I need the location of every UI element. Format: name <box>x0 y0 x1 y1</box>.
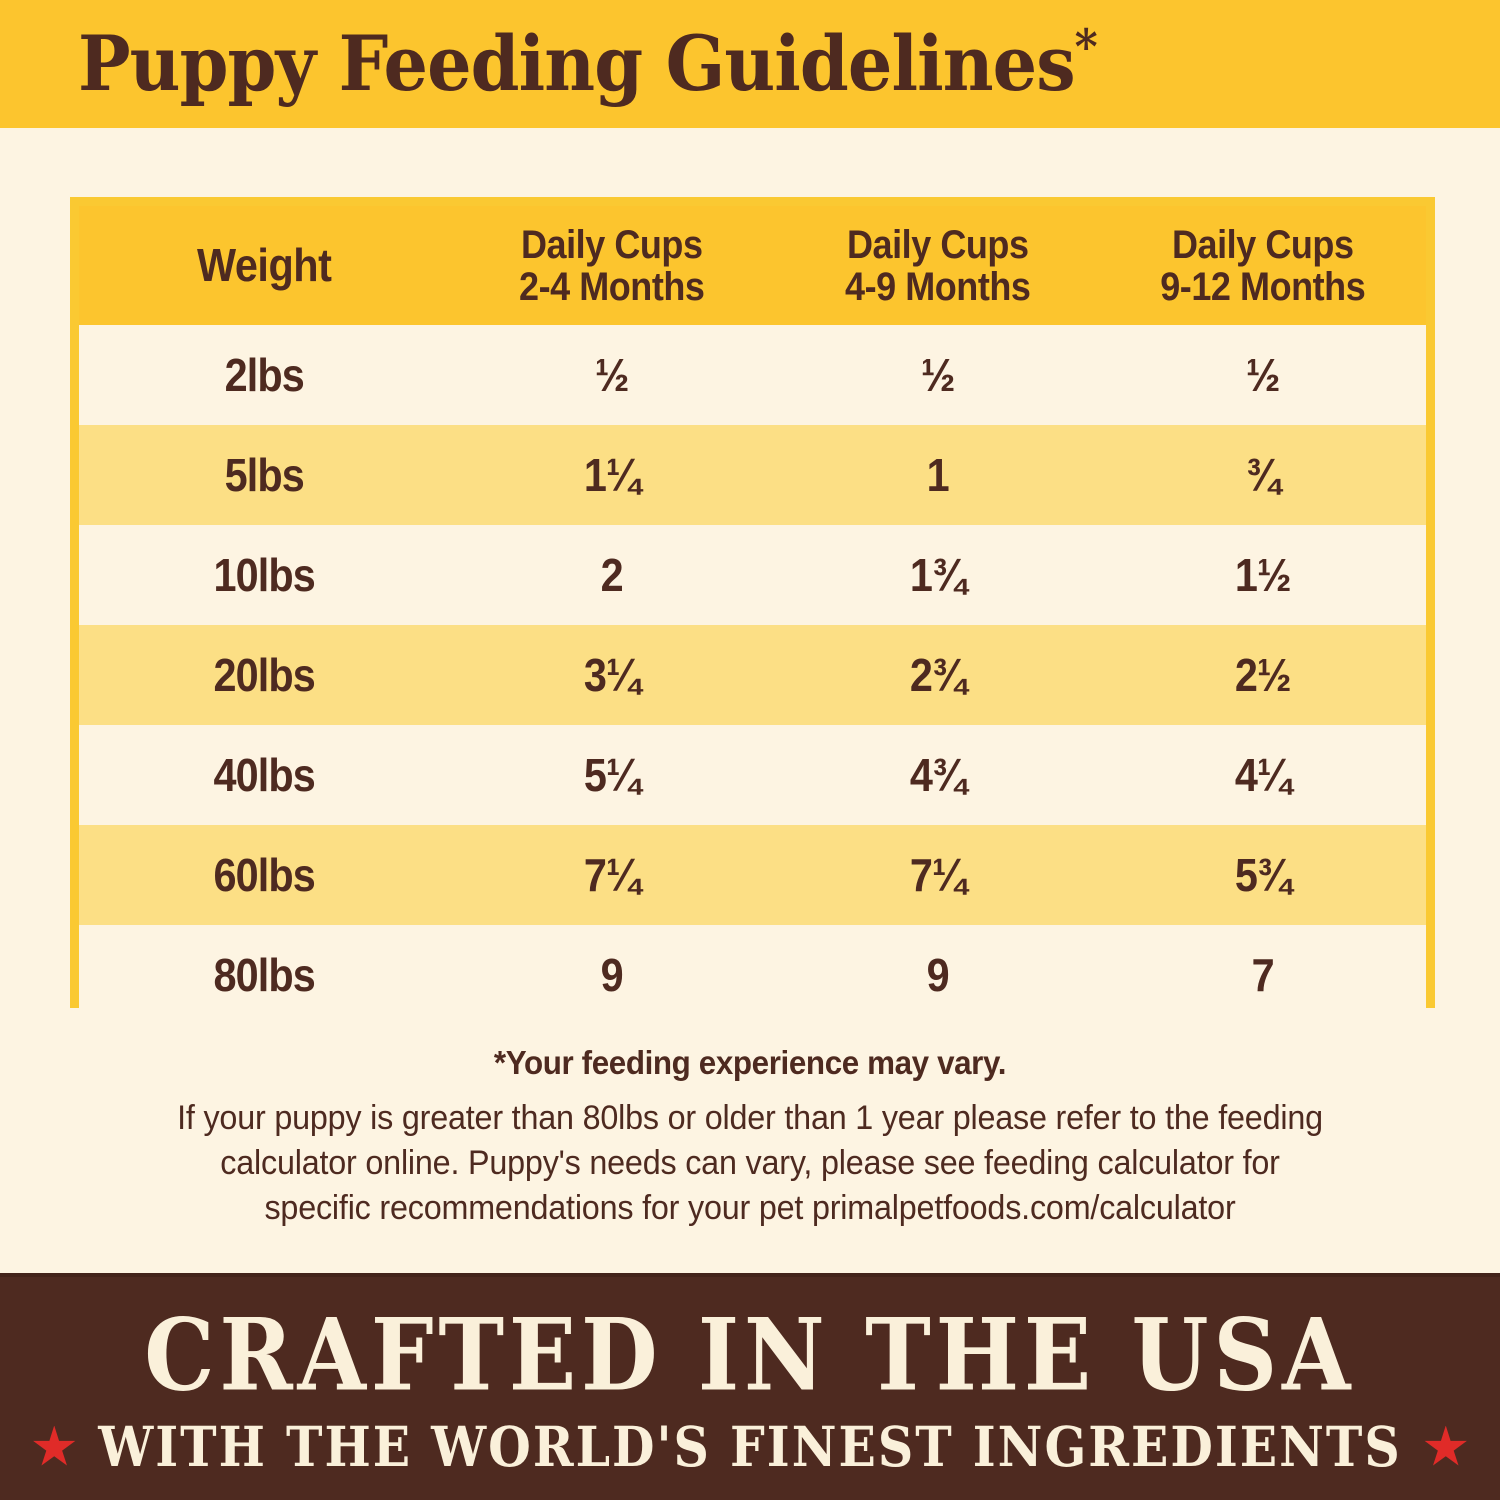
page-title: Puppy Feeding Guidelines* <box>78 26 1097 102</box>
feeding-guidelines-table: Weight Daily Cups 2-4 Months Daily Cups … <box>70 197 1435 1008</box>
column-header-cups-2-4: Daily Cups 2-4 Months <box>466 224 759 308</box>
page-title-asterisk: * <box>1075 20 1097 76</box>
footnote-line-3: specific recommendations for your pet pr… <box>38 1186 1463 1231</box>
cell-cups-9-12: ½ <box>1117 348 1410 402</box>
cell-cups-4-9: 9 <box>791 948 1084 1002</box>
column-header-cups-4-9-line2: 4-9 Months <box>791 266 1084 308</box>
banner-subline: WITH THE WORLD'S FINEST INGREDIENTS <box>98 1420 1402 1475</box>
cell-cups-9-12: ¾ <box>1117 448 1410 502</box>
cell-cups-4-9: 2¾ <box>791 648 1084 702</box>
column-header-cups-9-12-line2: 9-12 Months <box>1117 266 1410 308</box>
table-row: 2lbs ½ ½ ½ <box>79 325 1426 425</box>
cell-cups-2-4: 2 <box>466 548 759 602</box>
cell-cups-4-9: 1 <box>791 448 1084 502</box>
table-row: 80lbs 9 9 7 <box>79 925 1426 1025</box>
cell-weight: 40lbs <box>98 748 431 802</box>
cell-cups-2-4: 3¼ <box>466 648 759 702</box>
cell-cups-2-4: 7¼ <box>466 848 759 902</box>
column-header-cups-2-4-line1: Daily Cups <box>466 224 759 266</box>
cell-cups-9-12: 2½ <box>1117 648 1410 702</box>
page-title-text: Puppy Feeding Guidelines <box>78 19 1075 108</box>
table-row: 10lbs 2 1¾ 1½ <box>79 525 1426 625</box>
footnote-lead: *Your feeding experience may vary. <box>38 1044 1463 1082</box>
table-row: 40lbs 5¼ 4¾ 4¼ <box>79 725 1426 825</box>
table-row: 60lbs 7¼ 7¼ 5¾ <box>79 825 1426 925</box>
column-header-cups-2-4-line2: 2-4 Months <box>466 266 759 308</box>
cell-cups-9-12: 7 <box>1117 948 1410 1002</box>
cell-cups-4-9: 7¼ <box>791 848 1084 902</box>
banner-subline-row: WITH THE WORLD'S FINEST INGREDIENTS <box>32 1423 1468 1472</box>
crafted-in-usa-banner: CRAFTED IN THE USA WITH THE WORLD'S FINE… <box>0 1273 1500 1500</box>
column-header-cups-4-9: Daily Cups 4-9 Months <box>791 224 1084 308</box>
cell-weight: 60lbs <box>98 848 431 902</box>
cell-cups-9-12: 5¾ <box>1117 848 1410 902</box>
table-header-row: Weight Daily Cups 2-4 Months Daily Cups … <box>79 206 1426 325</box>
column-header-cups-9-12: Daily Cups 9-12 Months <box>1117 224 1410 308</box>
table-row: 5lbs 1¼ 1 ¾ <box>79 425 1426 525</box>
cell-weight: 2lbs <box>98 348 431 402</box>
column-header-cups-9-12-line1: Daily Cups <box>1117 224 1410 266</box>
footnote-block: *Your feeding experience may vary. If yo… <box>0 1044 1500 1232</box>
cell-cups-4-9: 4¾ <box>791 748 1084 802</box>
cell-cups-2-4: 5¼ <box>466 748 759 802</box>
title-band: Puppy Feeding Guidelines* <box>0 0 1500 128</box>
cell-cups-2-4: 9 <box>466 948 759 1002</box>
cell-cups-2-4: 1¼ <box>466 448 759 502</box>
footnote-line-1: If your puppy is greater than 80lbs or o… <box>38 1096 1463 1141</box>
cell-weight: 80lbs <box>98 948 431 1002</box>
cell-cups-9-12: 4¼ <box>1117 748 1410 802</box>
cell-weight: 20lbs <box>98 648 431 702</box>
banner-headline: CRAFTED IN THE USA <box>144 1305 1355 1404</box>
star-icon-right <box>1424 1426 1468 1470</box>
cell-cups-9-12: 1½ <box>1117 548 1410 602</box>
cell-weight: 5lbs <box>98 448 431 502</box>
cell-cups-4-9: 1¾ <box>791 548 1084 602</box>
table-row: 20lbs 3¼ 2¾ 2½ <box>79 625 1426 725</box>
cell-weight: 10lbs <box>98 548 431 602</box>
star-icon-left <box>32 1426 76 1470</box>
column-header-weight-line1: Weight <box>98 241 431 289</box>
cell-cups-2-4: ½ <box>466 348 759 402</box>
column-header-cups-4-9-line1: Daily Cups <box>791 224 1084 266</box>
footnote-line-2: calculator online. Puppy's needs can var… <box>38 1141 1463 1186</box>
column-header-weight: Weight <box>98 241 431 289</box>
cell-cups-4-9: ½ <box>791 348 1084 402</box>
